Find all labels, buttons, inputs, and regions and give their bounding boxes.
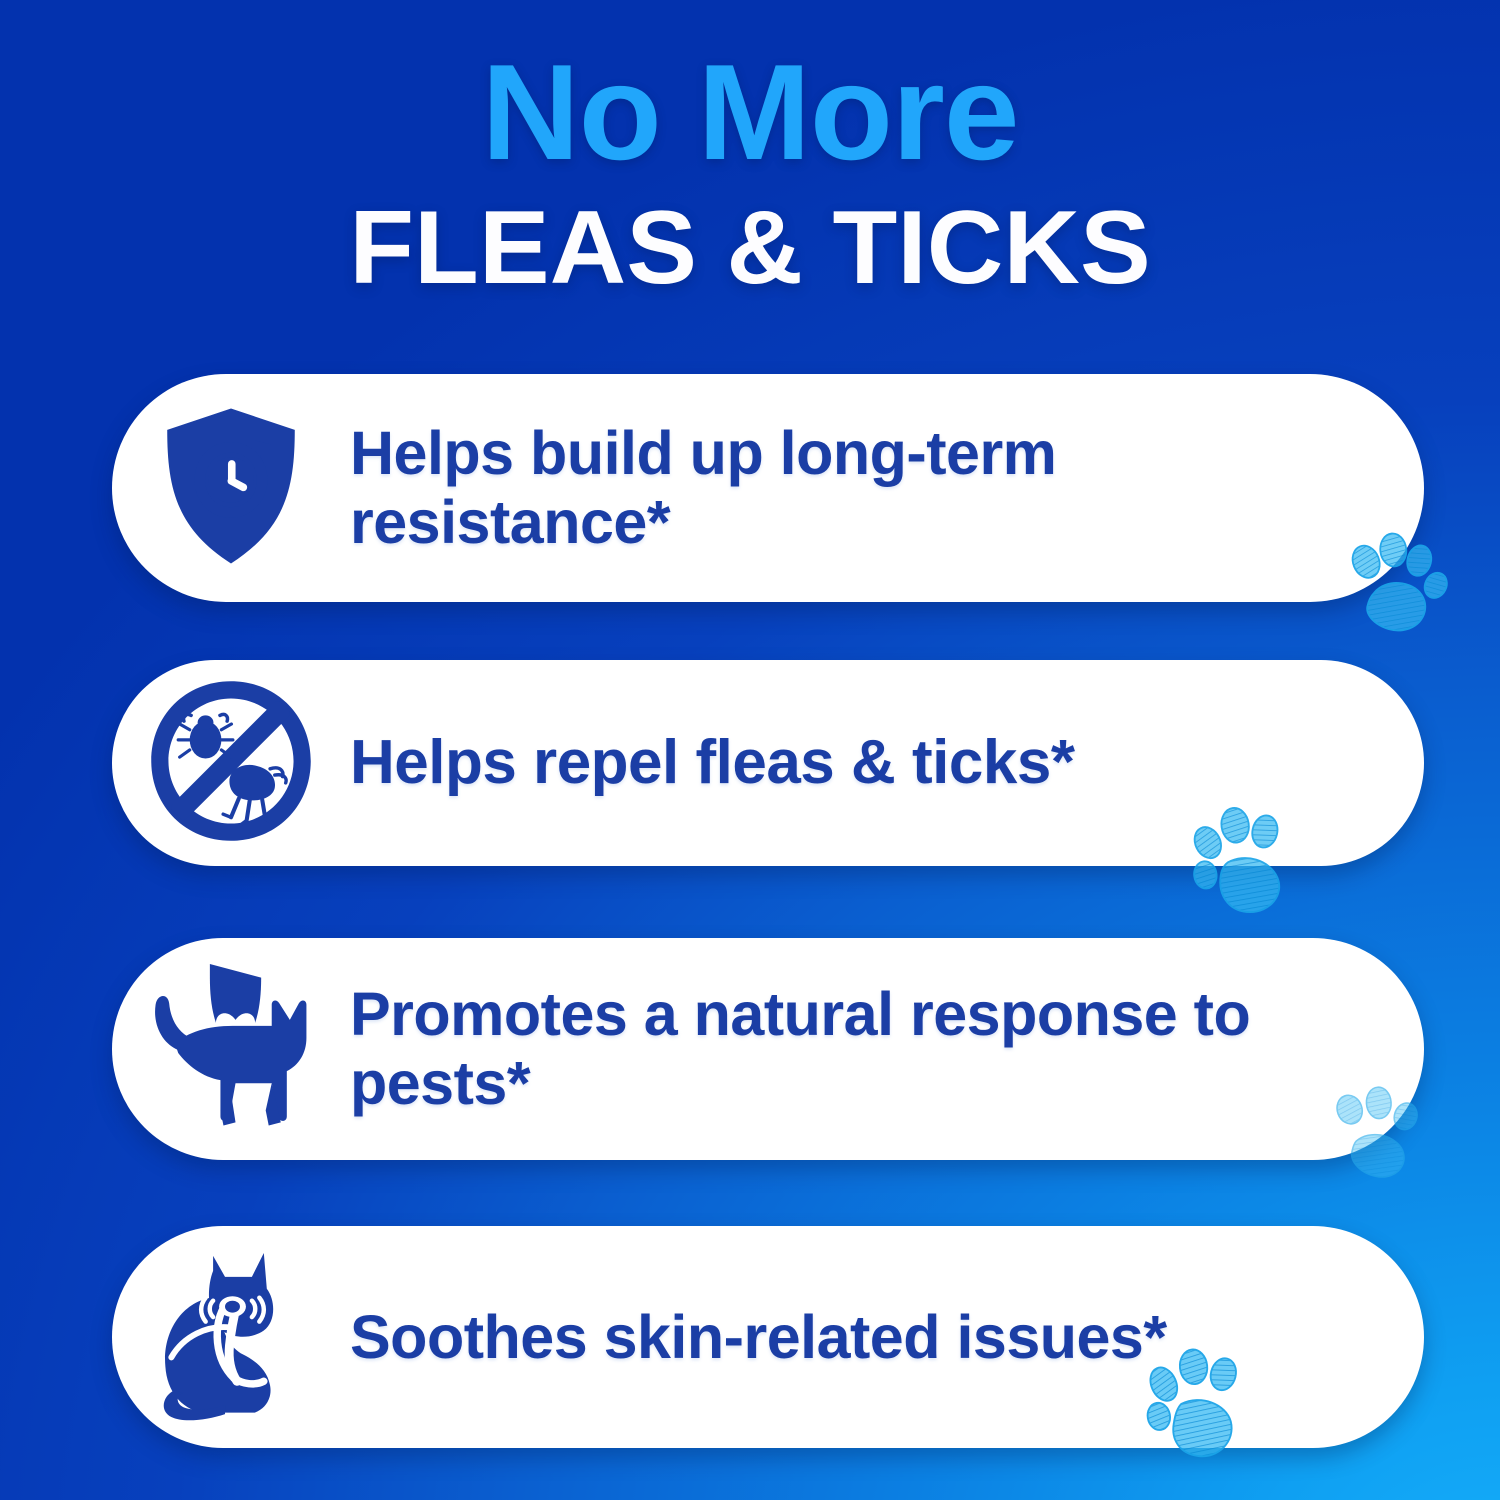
benefit-text: Promotes a natural response to pests* [350, 980, 1424, 1118]
promo-poster: No More FLEAS & TICKS Helps build up lon… [0, 0, 1500, 1500]
benefit-card-natural-response[interactable]: Promotes a natural response to pests* [112, 938, 1424, 1160]
headline-line-1: No More [0, 44, 1500, 180]
benefit-icon-slot [112, 938, 350, 1160]
benefit-icon-slot [112, 1226, 350, 1448]
benefit-text: Soothes skin-related issues* [350, 1303, 1424, 1372]
benefit-text: Helps repel fleas & ticks* [350, 728, 1424, 798]
benefit-card-soothes-skin[interactable]: Soothes skin-related issues* [112, 1226, 1424, 1448]
page-title: No More FLEAS & TICKS [0, 44, 1500, 300]
headline-line-2: FLEAS & TICKS [0, 196, 1500, 300]
shield-clock-icon [155, 404, 307, 573]
benefit-icon-slot [112, 374, 350, 602]
benefit-card-long-term-resistance[interactable]: Helps build up long-term resistance* [112, 374, 1424, 602]
no-fleas-ticks-icon [145, 675, 317, 852]
benefit-card-repel-fleas-ticks[interactable]: Helps repel fleas & ticks* [112, 660, 1424, 866]
benefit-icon-slot [112, 660, 350, 866]
benefit-text: Helps build up long-term resistance* [350, 419, 1424, 557]
cat-shield-heart-icon [142, 959, 320, 1140]
cat-scratching-icon [147, 1244, 315, 1431]
